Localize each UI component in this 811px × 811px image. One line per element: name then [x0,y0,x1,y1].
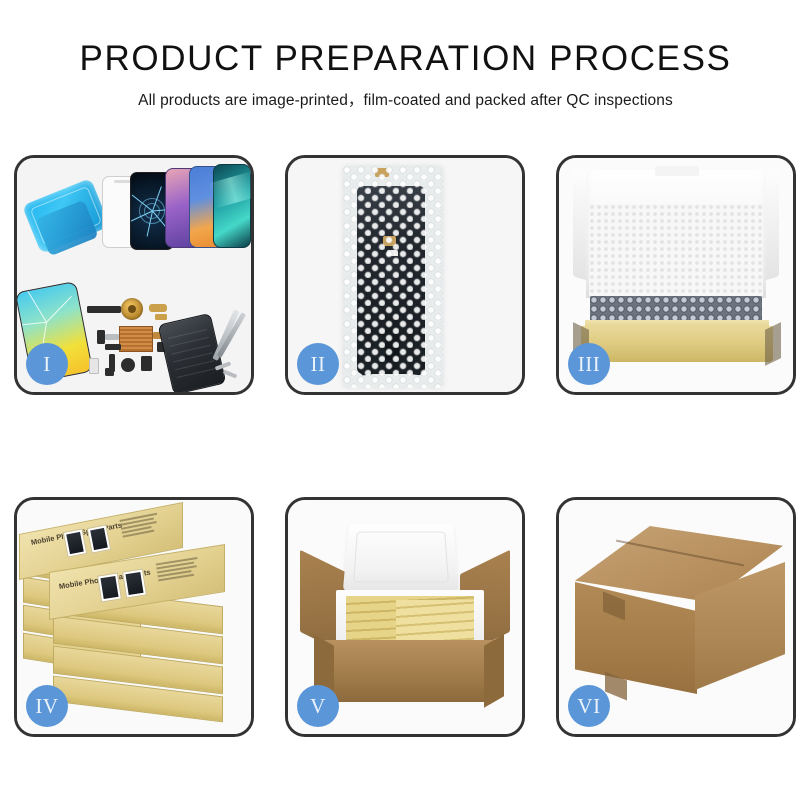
process-step-panel-3: III [556,155,796,395]
kraft-box-front [581,326,773,362]
carton-body [324,640,494,702]
process-step-panel-5: V [285,497,525,737]
process-step-panel-1: I [14,155,254,395]
process-step-panel-6: VI [556,497,796,737]
header: PRODUCT PREPARATION PROCESS All products… [0,38,811,110]
step-badge-2: II [297,343,339,385]
packed-yellow-boxes [396,600,474,640]
box-lid-tab [655,166,699,176]
process-step-panel-2: II [285,155,525,395]
component-chip [149,304,167,312]
component-chip [155,314,167,320]
copper-grid-chip-icon [119,326,153,352]
component-chip [105,344,121,350]
component-chip [89,358,99,374]
box-product-photo [122,569,147,599]
product-preparation-infographic: PRODUCT PREPARATION PROCESS All products… [0,0,811,811]
page-title: PRODUCT PREPARATION PROCESS [0,38,811,80]
copper-coil-icon [121,298,143,320]
component-chip [87,306,121,313]
bubble-wrap-bag-icon [343,166,443,388]
step-badge-6: VI [568,685,610,727]
component-chip [105,334,119,340]
step-badge-3: III [568,343,610,385]
step-badge-1: I [26,343,68,385]
page-subtitle: All products are image-printed，film-coat… [0,88,811,110]
step-badge-5: V [297,685,339,727]
component-chip [97,330,105,344]
component-chip [105,368,114,376]
foam-sheet-icon [589,204,763,296]
step-badge-4: IV [26,685,68,727]
teal-phone-screen-icon [213,164,251,248]
process-step-grid: I II [14,155,797,737]
box-product-photo [97,573,122,603]
process-step-panel-4: Mobile Phone Spare Parts Mobile Phone Sp… [14,497,254,737]
speaker-component [121,358,135,372]
foam-lid-icon [343,524,460,592]
component-chip [141,356,152,371]
